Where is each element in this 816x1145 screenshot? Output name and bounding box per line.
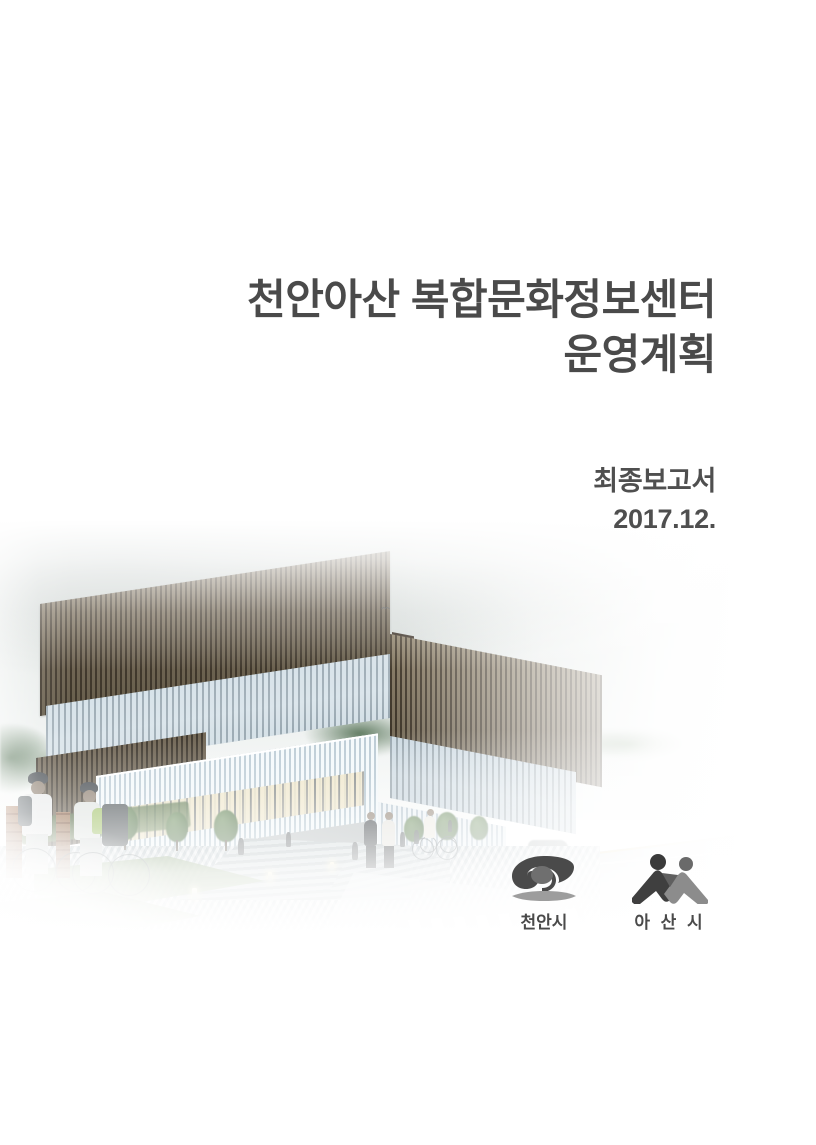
subtitle-date: 2017.12. xyxy=(300,500,716,538)
asan-city-label: 아 산 시 xyxy=(626,908,714,933)
image-fade-top xyxy=(0,520,816,670)
title-line-1: 천안아산 복합문화정보센터 xyxy=(180,272,716,327)
city-logos: 천안시 아 산 시 xyxy=(500,858,730,933)
report-cover-page: 천안아산 복합문화정보센터 운영계획 최종보고서 2017.12. xyxy=(0,0,816,1145)
cheonan-city-label: 천안시 xyxy=(500,908,588,933)
cheonan-city-logo: 천안시 xyxy=(500,853,588,933)
page-title: 천안아산 복합문화정보센터 운영계획 xyxy=(180,272,716,383)
subtitle-report-type: 최종보고서 xyxy=(300,462,716,500)
title-line-2: 운영계획 xyxy=(180,327,716,382)
asan-city-logo: 아 산 시 xyxy=(626,853,714,933)
asan-two-figures-mark-icon xyxy=(626,853,714,905)
image-fade-corner xyxy=(0,760,300,960)
page-subtitle: 최종보고서 2017.12. xyxy=(300,462,716,539)
cheonan-swirl-mark-icon xyxy=(500,853,588,905)
